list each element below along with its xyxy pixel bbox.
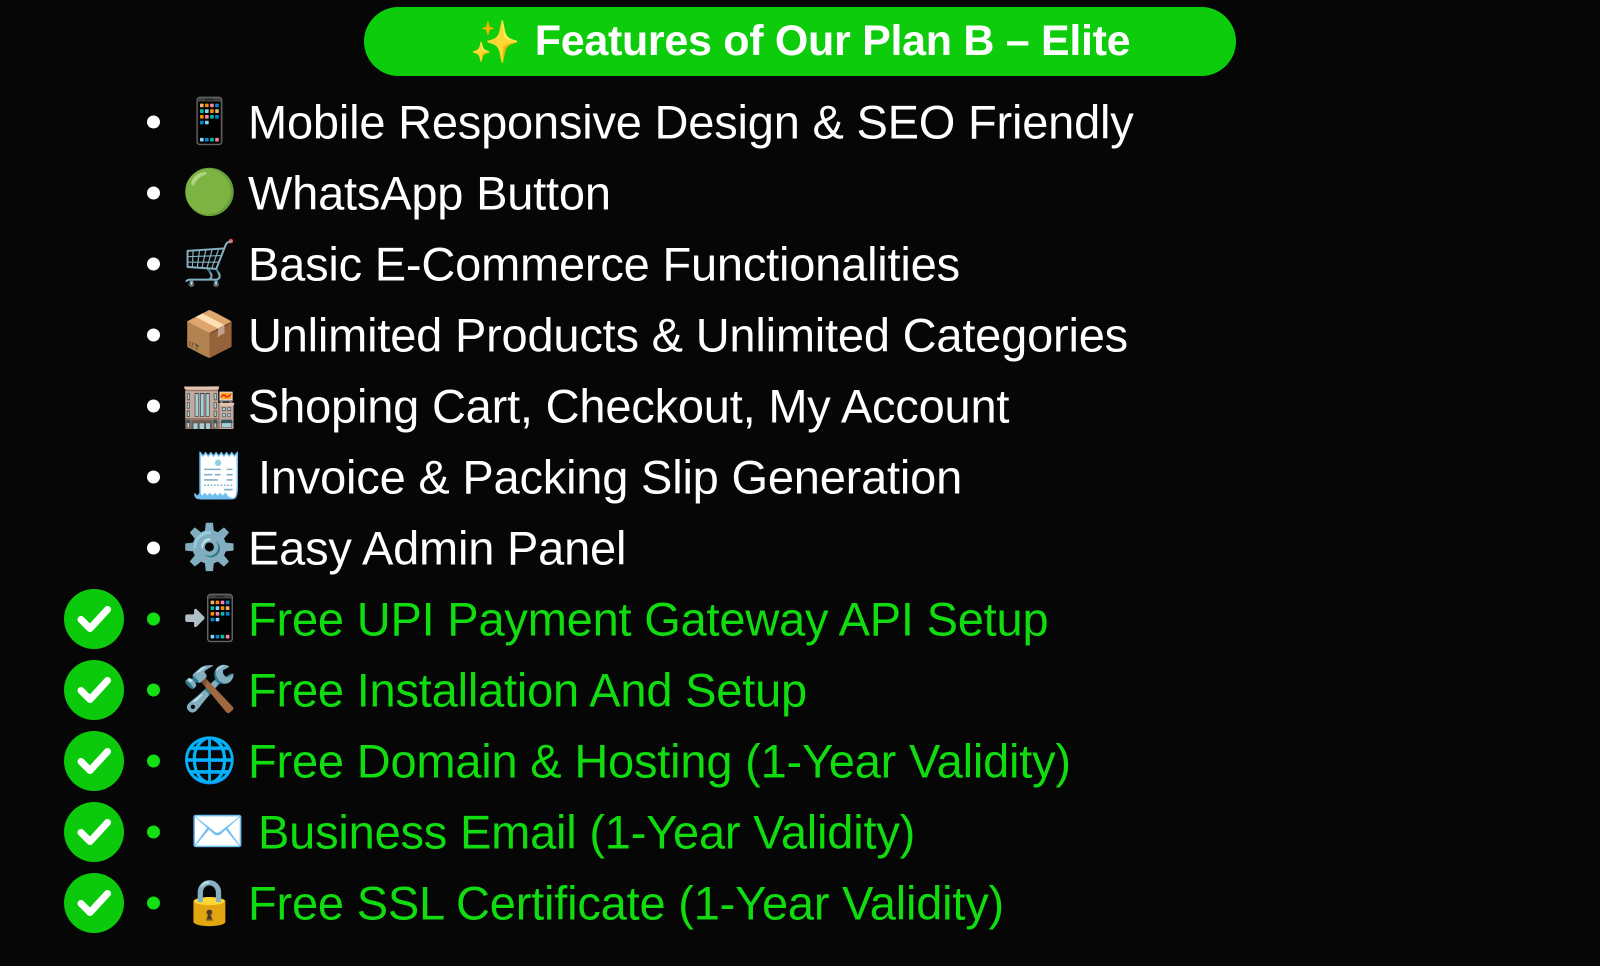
feature-row: ✉️Business Email (1-Year Validity)	[0, 796, 1600, 867]
feature-label: Free UPI Payment Gateway API Setup	[248, 594, 1048, 643]
header-pill: ✨ Features of Our Plan B – Elite	[364, 7, 1236, 76]
list-bullet-icon	[147, 115, 160, 128]
check-badge-slot	[63, 659, 125, 721]
globe-with-meridians-emoji: 🌐	[182, 739, 232, 783]
list-bullet-icon	[147, 683, 160, 696]
shopping-cart-emoji: 🛒	[182, 242, 232, 286]
list-bullet-icon	[147, 825, 160, 838]
check-mark-icon	[64, 731, 124, 791]
check-mark-icon	[64, 589, 124, 649]
check-mark-icon	[64, 660, 124, 720]
feature-row: 🧾Invoice & Packing Slip Generation	[0, 441, 1600, 512]
feature-label: Mobile Responsive Design & SEO Friendly	[248, 97, 1134, 146]
envelope-emoji: ✉️	[190, 810, 240, 854]
check-badge-slot	[63, 801, 125, 863]
list-bullet-icon	[147, 754, 160, 767]
slide-root: ✨ Features of Our Plan B – Elite 📱Mobile…	[0, 0, 1600, 966]
mobile-phone-with-arrow-emoji: 📲	[182, 597, 232, 641]
check-badge-slot	[63, 872, 125, 934]
feature-label: Unlimited Products & Unlimited Categorie…	[248, 310, 1128, 359]
check-badge-slot	[63, 730, 125, 792]
feature-row: 📦Unlimited Products & Unlimited Categori…	[0, 299, 1600, 370]
feature-row: 📲Free UPI Payment Gateway API Setup	[0, 583, 1600, 654]
header-banner: ✨ Features of Our Plan B – Elite	[0, 7, 1600, 76]
feature-row: 📱Mobile Responsive Design & SEO Friendly	[0, 86, 1600, 157]
feature-row: 🛒Basic E-Commerce Functionalities	[0, 228, 1600, 299]
feature-label: Shoping Cart, Checkout, My Account	[248, 381, 1009, 430]
list-bullet-icon	[147, 257, 160, 270]
list-bullet-icon	[147, 541, 160, 554]
hammer-and-wrench-emoji: 🛠️	[182, 668, 232, 712]
list-bullet-icon	[147, 186, 160, 199]
list-bullet-icon	[147, 612, 160, 625]
feature-list: 📱Mobile Responsive Design & SEO Friendly…	[0, 86, 1600, 938]
feature-row: 🛠️Free Installation And Setup	[0, 654, 1600, 725]
feature-label: Free Installation And Setup	[248, 665, 807, 714]
mobile-phone-emoji: 📱	[182, 100, 232, 144]
receipt-emoji: 🧾	[190, 455, 240, 499]
package-emoji: 📦	[182, 313, 232, 357]
feature-label: Invoice & Packing Slip Generation	[258, 452, 962, 501]
feature-label: Free SSL Certificate (1-Year Validity)	[248, 878, 1004, 927]
department-store-emoji: 🏬	[182, 384, 232, 428]
gear-emoji: ⚙️	[182, 526, 232, 570]
list-bullet-icon	[147, 470, 160, 483]
lock-emoji: 🔒	[182, 881, 232, 925]
list-bullet-icon	[147, 399, 160, 412]
feature-label: WhatsApp Button	[248, 168, 611, 217]
check-mark-icon	[64, 873, 124, 933]
feature-row: 🔒Free SSL Certificate (1-Year Validity)	[0, 867, 1600, 938]
page-title: Features of Our Plan B – Elite	[535, 20, 1131, 63]
check-mark-icon	[64, 802, 124, 862]
feature-label: Basic E-Commerce Functionalities	[248, 239, 960, 288]
green-circle-emoji: 🟢	[182, 171, 232, 215]
check-badge-slot	[63, 588, 125, 650]
feature-row: ⚙️Easy Admin Panel	[0, 512, 1600, 583]
feature-label: Easy Admin Panel	[248, 523, 626, 572]
feature-row: 🟢WhatsApp Button	[0, 157, 1600, 228]
feature-row: 🏬Shoping Cart, Checkout, My Account	[0, 370, 1600, 441]
feature-row: 🌐Free Domain & Hosting (1-Year Validity)	[0, 725, 1600, 796]
feature-label: Business Email (1-Year Validity)	[258, 807, 915, 856]
list-bullet-icon	[147, 328, 160, 341]
sparkles-icon: ✨	[470, 22, 521, 63]
list-bullet-icon	[147, 896, 160, 909]
feature-label: Free Domain & Hosting (1-Year Validity)	[248, 736, 1071, 785]
